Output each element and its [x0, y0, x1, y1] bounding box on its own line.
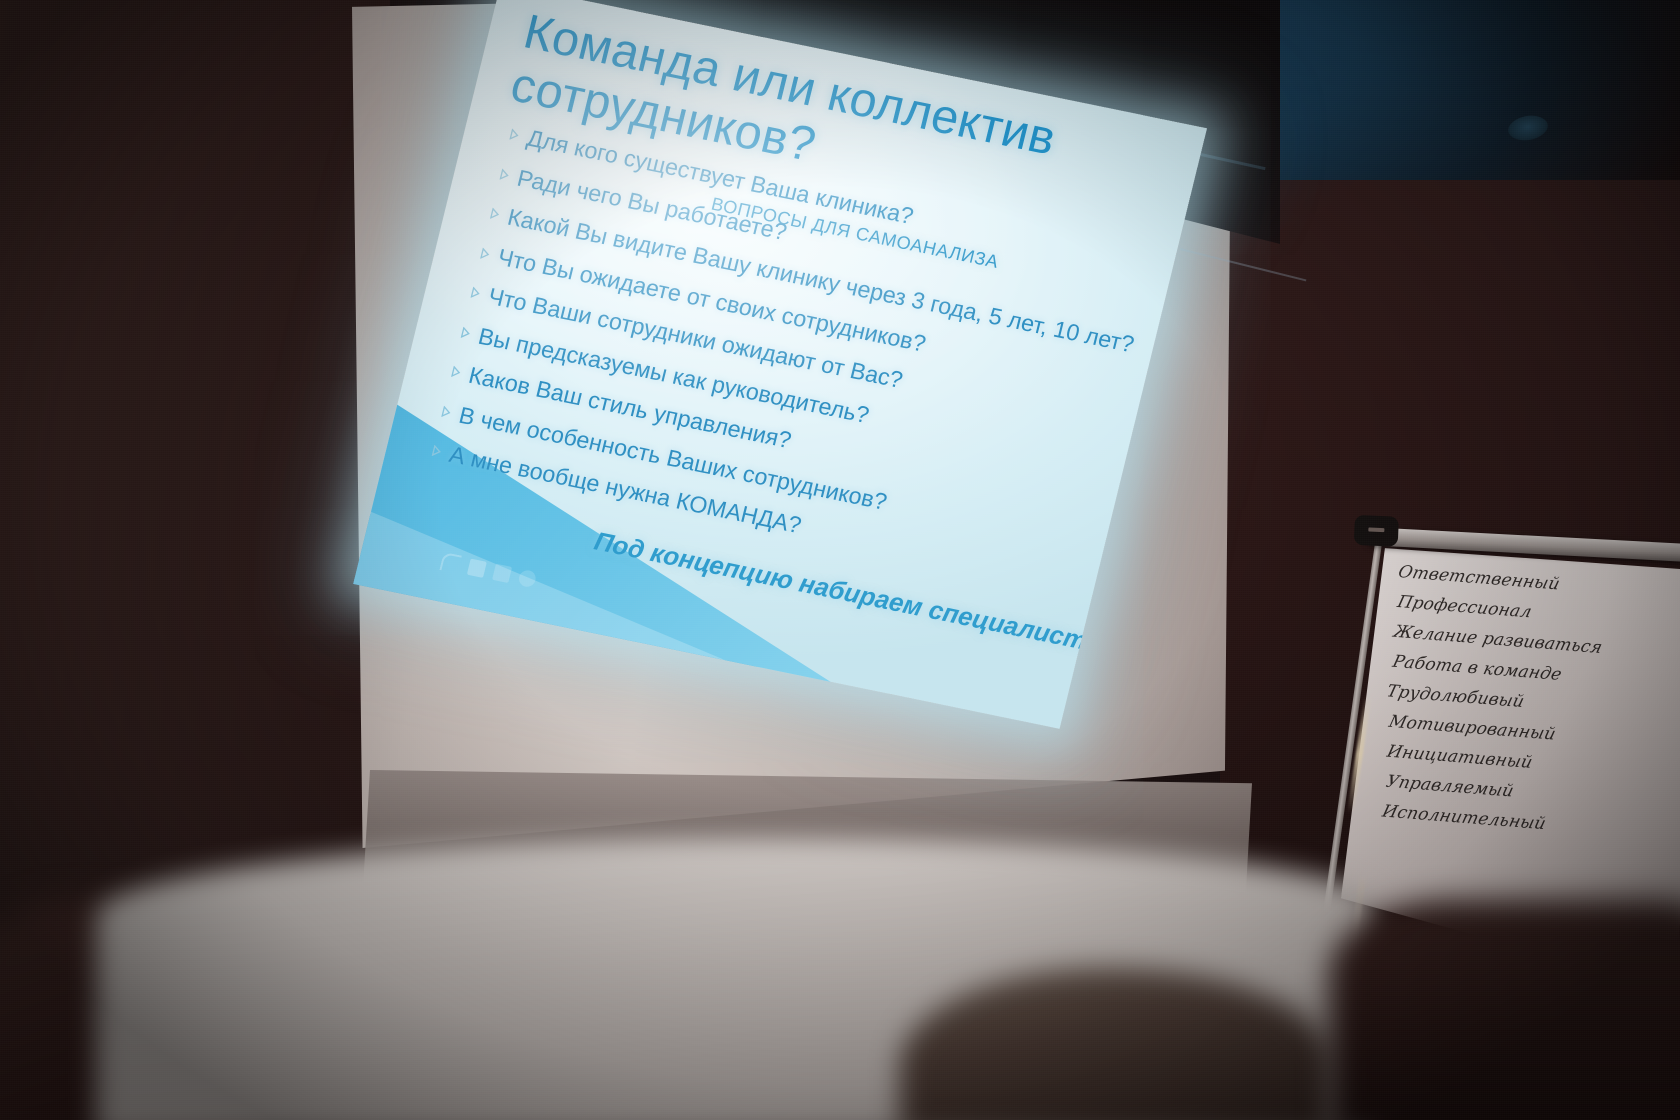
- foreground-shadow-right: [1330, 900, 1680, 1120]
- flipchart-clip-icon: [1354, 515, 1399, 547]
- photo-scene: Команда или коллектив сотрудников? ВОПРО…: [0, 0, 1680, 1120]
- flipchart-handwriting: Ответственный Профессионал Желание разви…: [1374, 561, 1680, 860]
